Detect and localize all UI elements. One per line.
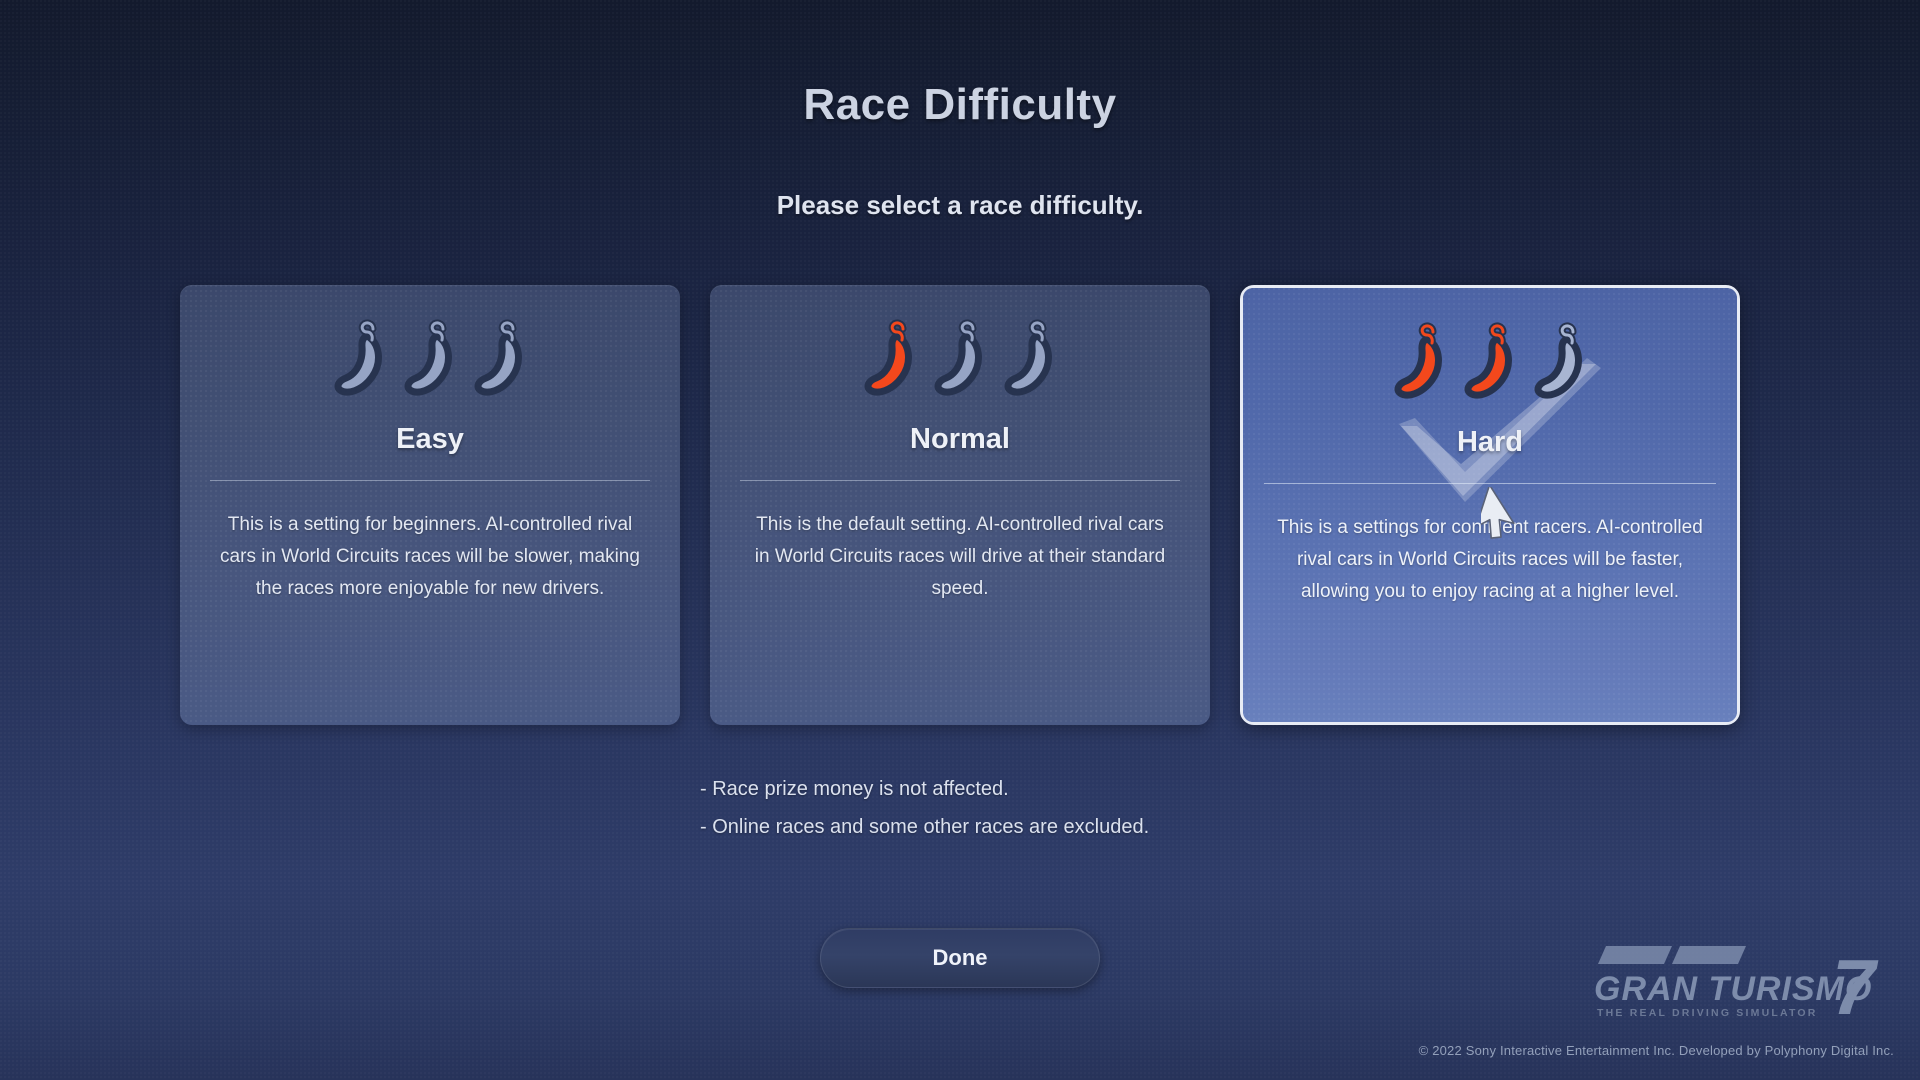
pepper-rating-normal <box>858 313 1062 405</box>
gran-turismo-logo: GRAN TURISMO THE REAL DRIVING SIMULATOR … <box>1594 944 1894 1028</box>
difficulty-label-hard: Hard <box>1457 426 1523 459</box>
logo-bar <box>1672 946 1746 964</box>
logo-wordmark: GRAN TURISMO <box>1594 970 1872 1008</box>
chili-pepper-icon <box>328 315 392 403</box>
difficulty-card-hard[interactable]: Hard This is a settings for confident ra… <box>1240 285 1740 725</box>
difficulty-card-list: Easy This is a setting for beginners. AI… <box>180 285 1740 735</box>
logo-bar <box>1598 946 1672 964</box>
page-title: Race Difficulty <box>0 80 1920 130</box>
difficulty-description-hard: This is a settings for confident racers.… <box>1270 512 1710 608</box>
logo-tagline: THE REAL DRIVING SIMULATOR <box>1597 1007 1818 1019</box>
pepper-rating-easy <box>328 313 532 405</box>
chili-pepper-icon <box>398 315 462 403</box>
notes-list: - Race prize money is not affected. - On… <box>700 770 1149 846</box>
chili-pepper-icon <box>1388 318 1452 406</box>
difficulty-label-easy: Easy <box>396 423 464 456</box>
difficulty-description-normal: This is the default setting. AI-controll… <box>750 509 1170 605</box>
chili-pepper-icon <box>1528 318 1592 406</box>
pepper-rating-hard <box>1388 316 1592 408</box>
page-subtitle: Please select a race difficulty. <box>0 190 1920 221</box>
copyright-text: © 2022 Sony Interactive Entertainment In… <box>1419 1043 1894 1058</box>
difficulty-description-easy: This is a setting for beginners. AI-cont… <box>220 509 640 605</box>
chili-pepper-icon <box>858 315 922 403</box>
difficulty-card-easy[interactable]: Easy This is a setting for beginners. AI… <box>180 285 680 725</box>
chili-pepper-icon <box>468 315 532 403</box>
card-divider-easy <box>210 480 650 481</box>
note-item: - Race prize money is not affected. <box>700 770 1149 808</box>
chili-pepper-icon <box>1458 318 1522 406</box>
difficulty-card-normal[interactable]: Normal This is the default setting. AI-c… <box>710 285 1210 725</box>
done-button[interactable]: Done <box>820 928 1100 988</box>
note-item: - Online races and some other races are … <box>700 808 1149 846</box>
difficulty-label-normal: Normal <box>910 423 1010 456</box>
card-divider-hard <box>1264 483 1716 484</box>
chili-pepper-icon <box>928 315 992 403</box>
race-difficulty-screen: Race Difficulty Please select a race dif… <box>0 0 1920 1080</box>
chili-pepper-icon <box>998 315 1062 403</box>
logo-number: 7 <box>1832 944 1879 1028</box>
card-divider-normal <box>740 480 1180 481</box>
